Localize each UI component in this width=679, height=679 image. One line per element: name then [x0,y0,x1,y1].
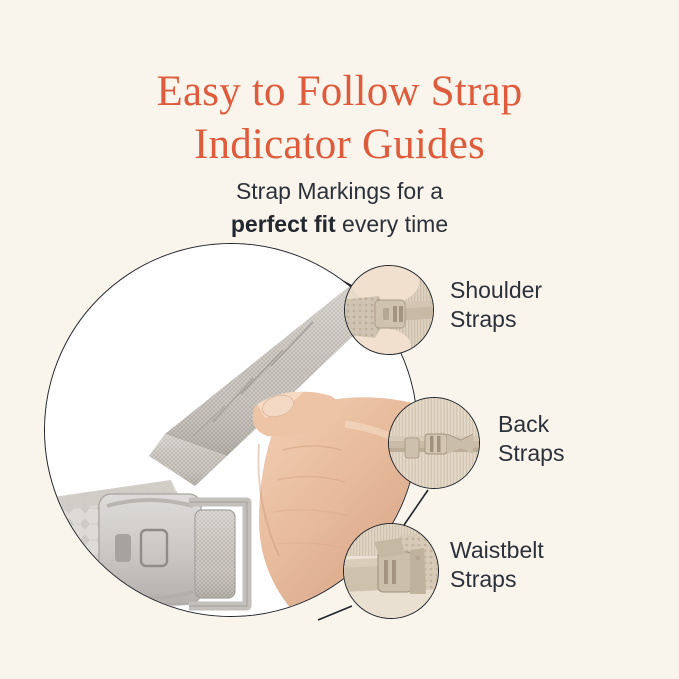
callout-label-waistbelt-line-1: Waistbelt [450,536,544,565]
callout-circle-shoulder[interactable] [344,265,434,355]
callout-circle-waistbelt[interactable] [343,523,439,619]
page-subtitle-line-1: Strap Markings for a [0,175,679,208]
callout-label-back-line-1: Back [498,410,564,439]
figure-strap-callouts: Shoulder Straps Back Straps Waistbelt St… [0,228,679,648]
page-title: Easy to Follow Strap Indicator Guides [0,65,679,171]
callout-label-back: Back Straps [498,410,564,468]
callout-label-shoulder-line-2: Straps [450,305,542,334]
waistbelt-strap-buckle-image [344,524,438,618]
callout-label-back-line-2: Straps [498,439,564,468]
back-strap-buckle-image [389,398,479,488]
callout-label-shoulder: Shoulder Straps [450,276,542,334]
page-title-line-1: Easy to Follow Strap [0,65,679,118]
shoulder-strap-buckle-image [345,266,433,354]
callout-label-shoulder-line-1: Shoulder [450,276,542,305]
callout-circle-back[interactable] [388,397,480,489]
callout-label-waistbelt-line-2: Straps [450,565,544,594]
product-feature-graphic: Easy to Follow Strap Indicator Guides St… [0,0,679,679]
page-title-line-2: Indicator Guides [0,118,679,171]
callout-label-waistbelt: Waistbelt Straps [450,536,544,594]
